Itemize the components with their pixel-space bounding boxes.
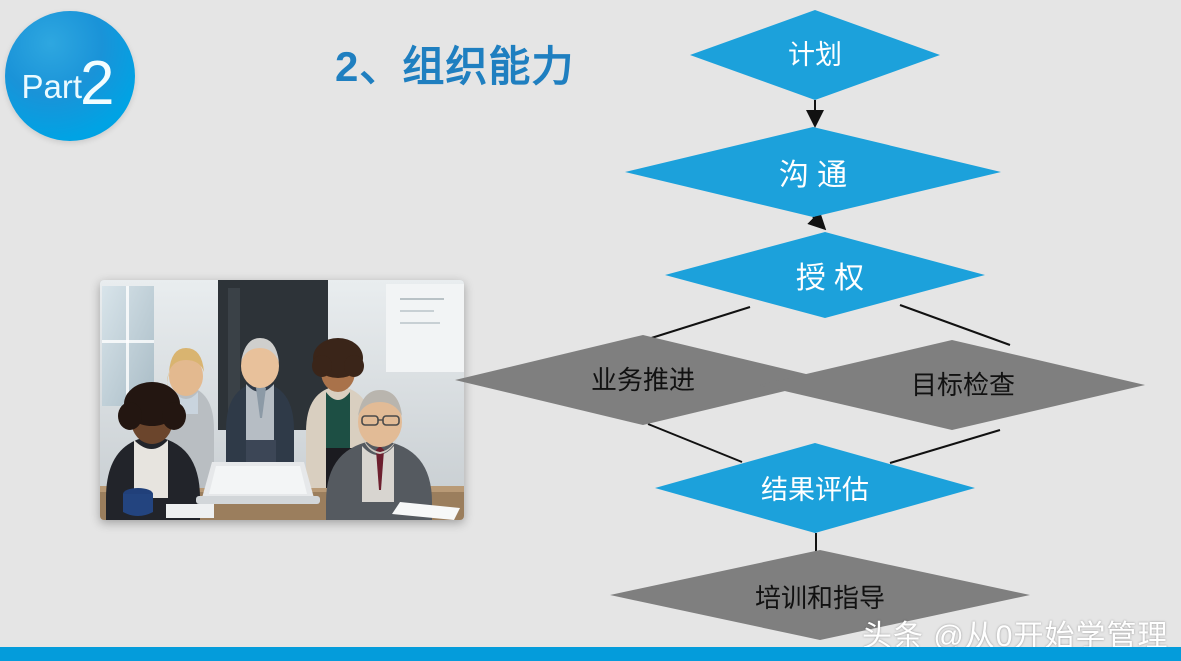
flow-label-authorize: 授 权 xyxy=(680,253,980,297)
part-number-badge: Part 2 xyxy=(5,11,135,141)
flow-node-evaluate[interactable] xyxy=(655,443,975,533)
team-photo-illustration xyxy=(100,280,464,520)
connector-goalcheck-to-evaluate xyxy=(890,430,1000,463)
flow-node-goalcheck[interactable] xyxy=(759,340,1145,430)
flow-label-plan: 计划 xyxy=(690,33,940,72)
flow-label-business: 业务推进 xyxy=(455,360,831,397)
flow-label-evaluate: 结果评估 xyxy=(655,468,975,507)
connector-business-to-evaluate xyxy=(648,424,742,462)
bottom-accent-bar xyxy=(0,647,1181,661)
flow-node-plan[interactable] xyxy=(690,10,940,100)
connector-authorize-to-goalcheck xyxy=(900,305,1010,345)
flow-label-goalcheck: 目标检查 xyxy=(775,365,1151,402)
part-label: Part xyxy=(21,70,82,103)
team-photo xyxy=(100,280,464,520)
flow-label-communicate: 沟 通 xyxy=(625,150,1001,194)
part-badge-inner: Part 2 xyxy=(21,47,114,109)
flow-node-authorize[interactable] xyxy=(665,232,985,318)
flow-node-business[interactable] xyxy=(455,335,831,425)
connector-authorize-to-business xyxy=(645,307,750,340)
page-title: 2、组织能力 xyxy=(335,33,574,94)
flow-label-training: 培训和指导 xyxy=(610,578,1030,615)
part-number: 2 xyxy=(80,53,114,115)
connector-communicate-to-authorize xyxy=(813,217,822,226)
presentation-slide: Part 2 2、组织能力 xyxy=(0,0,1181,661)
flow-node-communicate[interactable] xyxy=(625,127,1001,217)
